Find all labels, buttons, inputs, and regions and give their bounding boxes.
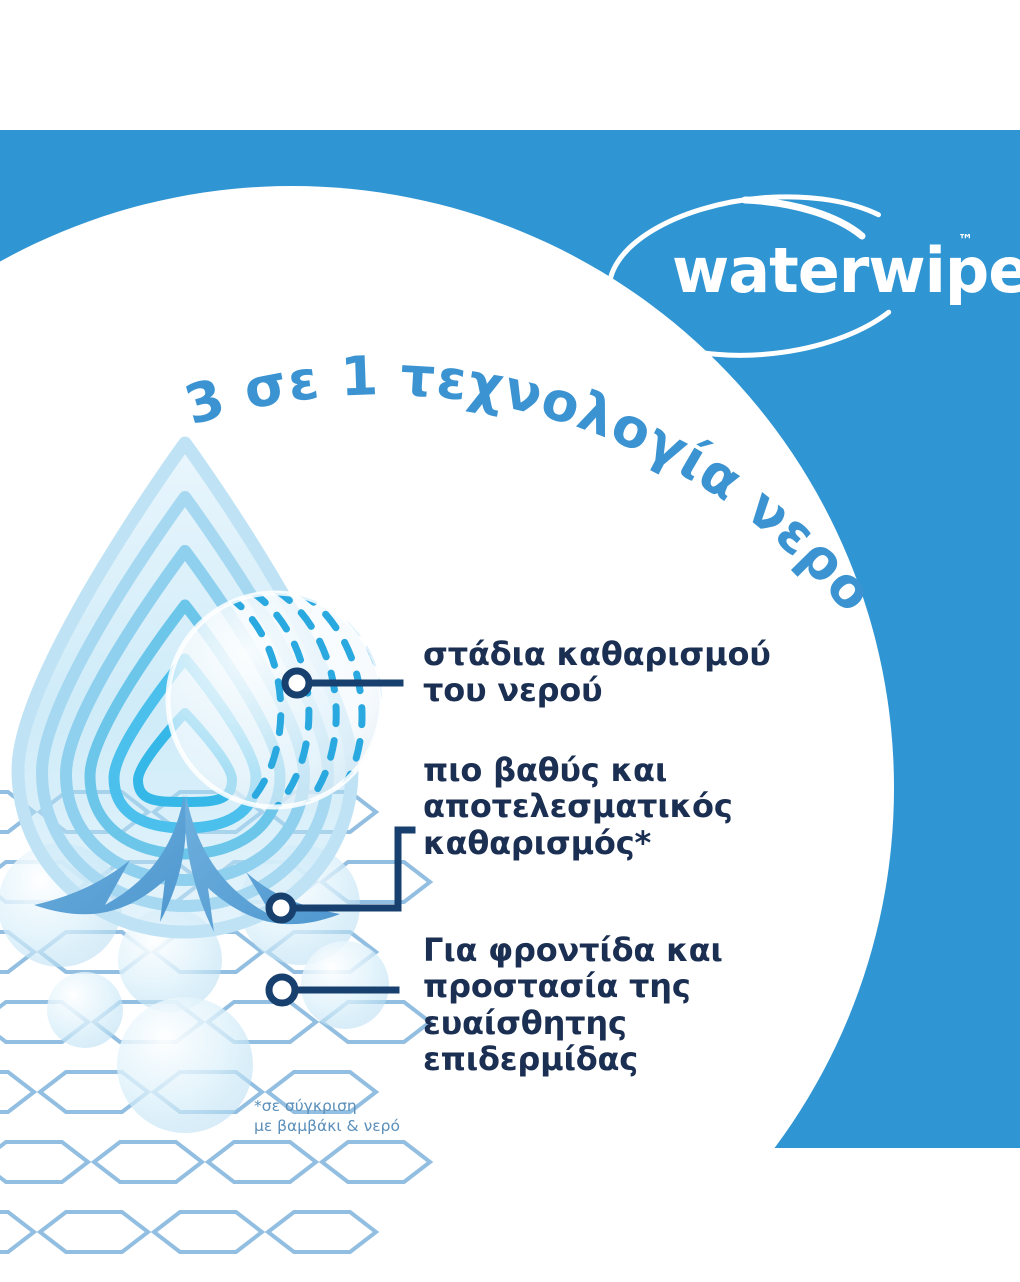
callout-2-line-1: πιο βαθύς και xyxy=(423,752,753,788)
callout-2-line-3: καθαρισμός* xyxy=(423,825,753,861)
footnote-line-2: με βαμβάκι & νερό xyxy=(254,1116,454,1136)
callout-2-line-2: αποτελεσματικός xyxy=(423,788,753,824)
callout-3-line-4: επιδερμίδας xyxy=(423,1041,753,1077)
callout-3-line-3: ευαίσθητης xyxy=(423,1005,753,1041)
callout-3-line-1: Για φροντίδα και xyxy=(423,932,753,968)
footnote-line-1: *σε σύγκριση xyxy=(254,1096,454,1116)
callout-3-dot xyxy=(269,977,295,1003)
footnote-text: *σε σύγκριση με βαμβάκι & νερό xyxy=(254,1096,454,1136)
product-infographic-image: waterwipes ™ 3 σε 1 τεχνολογία νερού xyxy=(0,0,1020,1282)
callout-sensitive-skin-text: Για φροντίδα και προστασία της ευαίσθητη… xyxy=(423,932,753,1078)
callout-1-dot xyxy=(285,671,309,695)
callout-1-line-1: στάδια καθαρισμού xyxy=(423,636,803,672)
callout-1-line-2: του νερού xyxy=(423,672,803,708)
callout-water-stages-text: στάδια καθαρισμού του νερού xyxy=(423,636,803,709)
callout-3-line-2: προστασία της xyxy=(423,968,753,1004)
callout-2-dot xyxy=(269,896,293,920)
callout-deeper-clean-text: πιο βαθύς και αποτελεσματικός καθαρισμός… xyxy=(423,752,753,861)
